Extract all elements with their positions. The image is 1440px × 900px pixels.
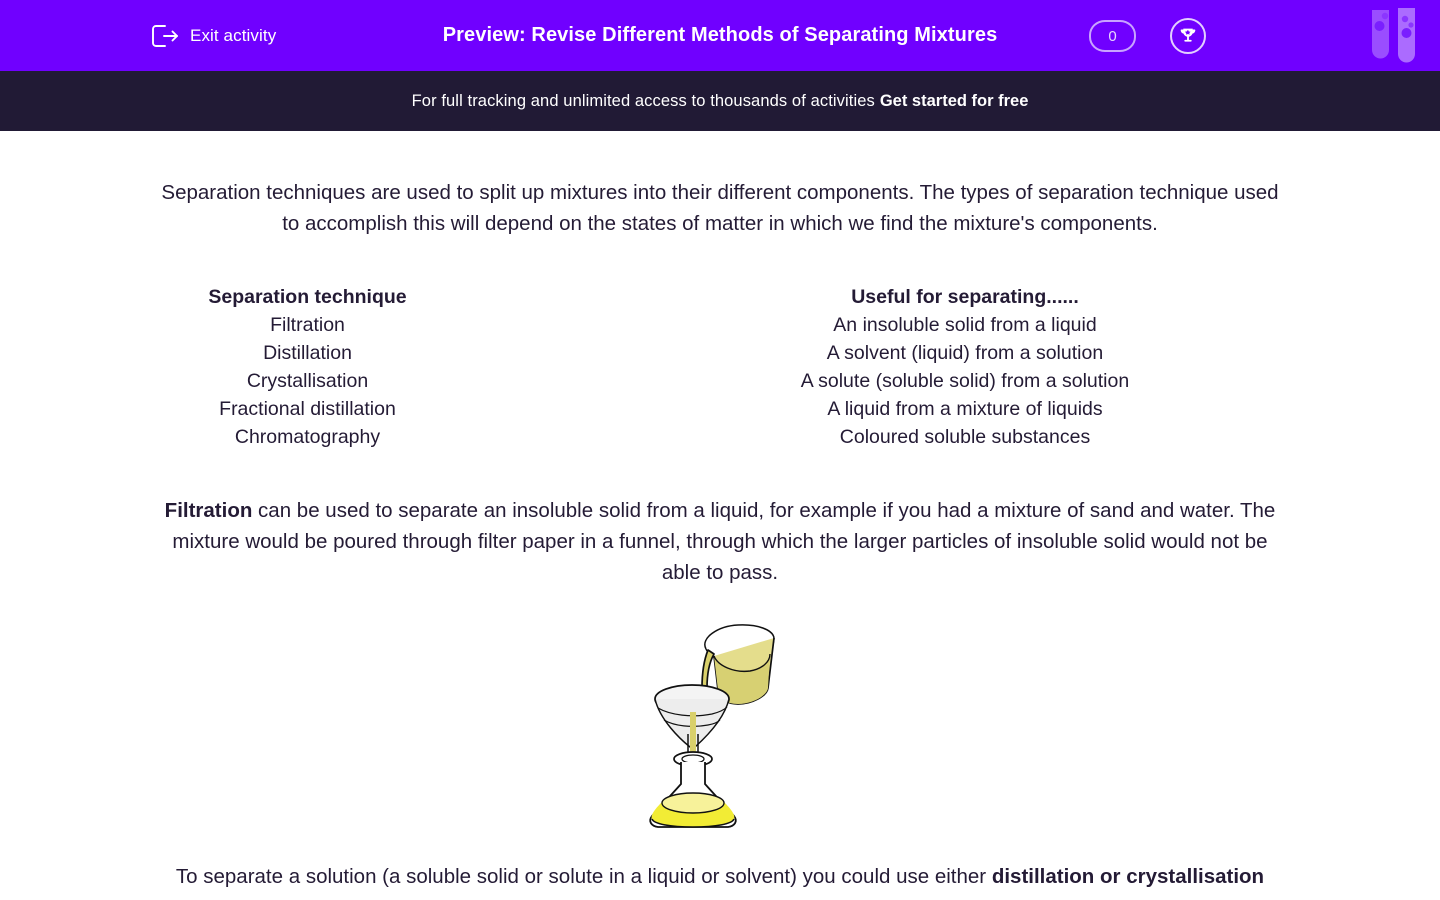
promo-banner-text: For full tracking and unlimited access t… [412, 92, 875, 111]
promo-banner: For full tracking and unlimited access t… [0, 71, 1440, 131]
bottom-paragraph-text: To separate a solution (a soluble solid … [176, 865, 992, 888]
column-header-technique: Separation technique [0, 283, 615, 311]
score-value: 0 [1108, 29, 1116, 44]
bottom-paragraph-bold: distillation or crystallisation [992, 865, 1264, 888]
bottom-paragraph: To separate a solution (a soluble solid … [161, 861, 1279, 892]
table-row: Crystallisation [0, 367, 615, 395]
filtration-paragraph-text: can be used to separate an insoluble sol… [172, 499, 1275, 584]
techniques-column: Separation technique Filtration Distilla… [0, 283, 615, 451]
test-tubes-icon [1368, 6, 1426, 68]
filtration-apparatus-diagram [640, 616, 800, 831]
filtration-paragraph: Filtration can be used to separate an in… [161, 495, 1279, 588]
exit-activity-label: Exit activity [190, 26, 276, 46]
table-row: A liquid from a mixture of liquids [615, 395, 1315, 423]
get-started-link[interactable]: Get started for free [880, 92, 1029, 111]
table-row: A solvent (liquid) from a solution [615, 339, 1315, 367]
table-row: Distillation [0, 339, 615, 367]
trophy-icon [1178, 26, 1198, 46]
table-row: Fractional distillation [0, 395, 615, 423]
table-row: Coloured soluble substances [615, 423, 1315, 451]
table-row: A solute (soluble solid) from a solution [615, 367, 1315, 395]
intro-paragraph: Separation techniques are used to split … [161, 177, 1279, 239]
top-navigation-bar: Exit activity Preview: Revise Different … [0, 0, 1440, 71]
filtration-term: Filtration [165, 499, 253, 522]
table-row: Filtration [0, 311, 615, 339]
exit-door-arrow-icon [150, 23, 180, 49]
table-row: An insoluble solid from a liquid [615, 311, 1315, 339]
table-row: Chromatography [0, 423, 615, 451]
main-content: Separation techniques are used to split … [0, 131, 1440, 892]
column-header-useful-for: Useful for separating...... [615, 283, 1315, 311]
uses-column: Useful for separating...... An insoluble… [615, 283, 1315, 451]
achievements-button[interactable] [1170, 18, 1206, 54]
techniques-table: Separation technique Filtration Distilla… [0, 283, 1440, 451]
score-badge[interactable]: 0 [1089, 20, 1136, 52]
exit-activity-button[interactable]: Exit activity [150, 0, 276, 71]
